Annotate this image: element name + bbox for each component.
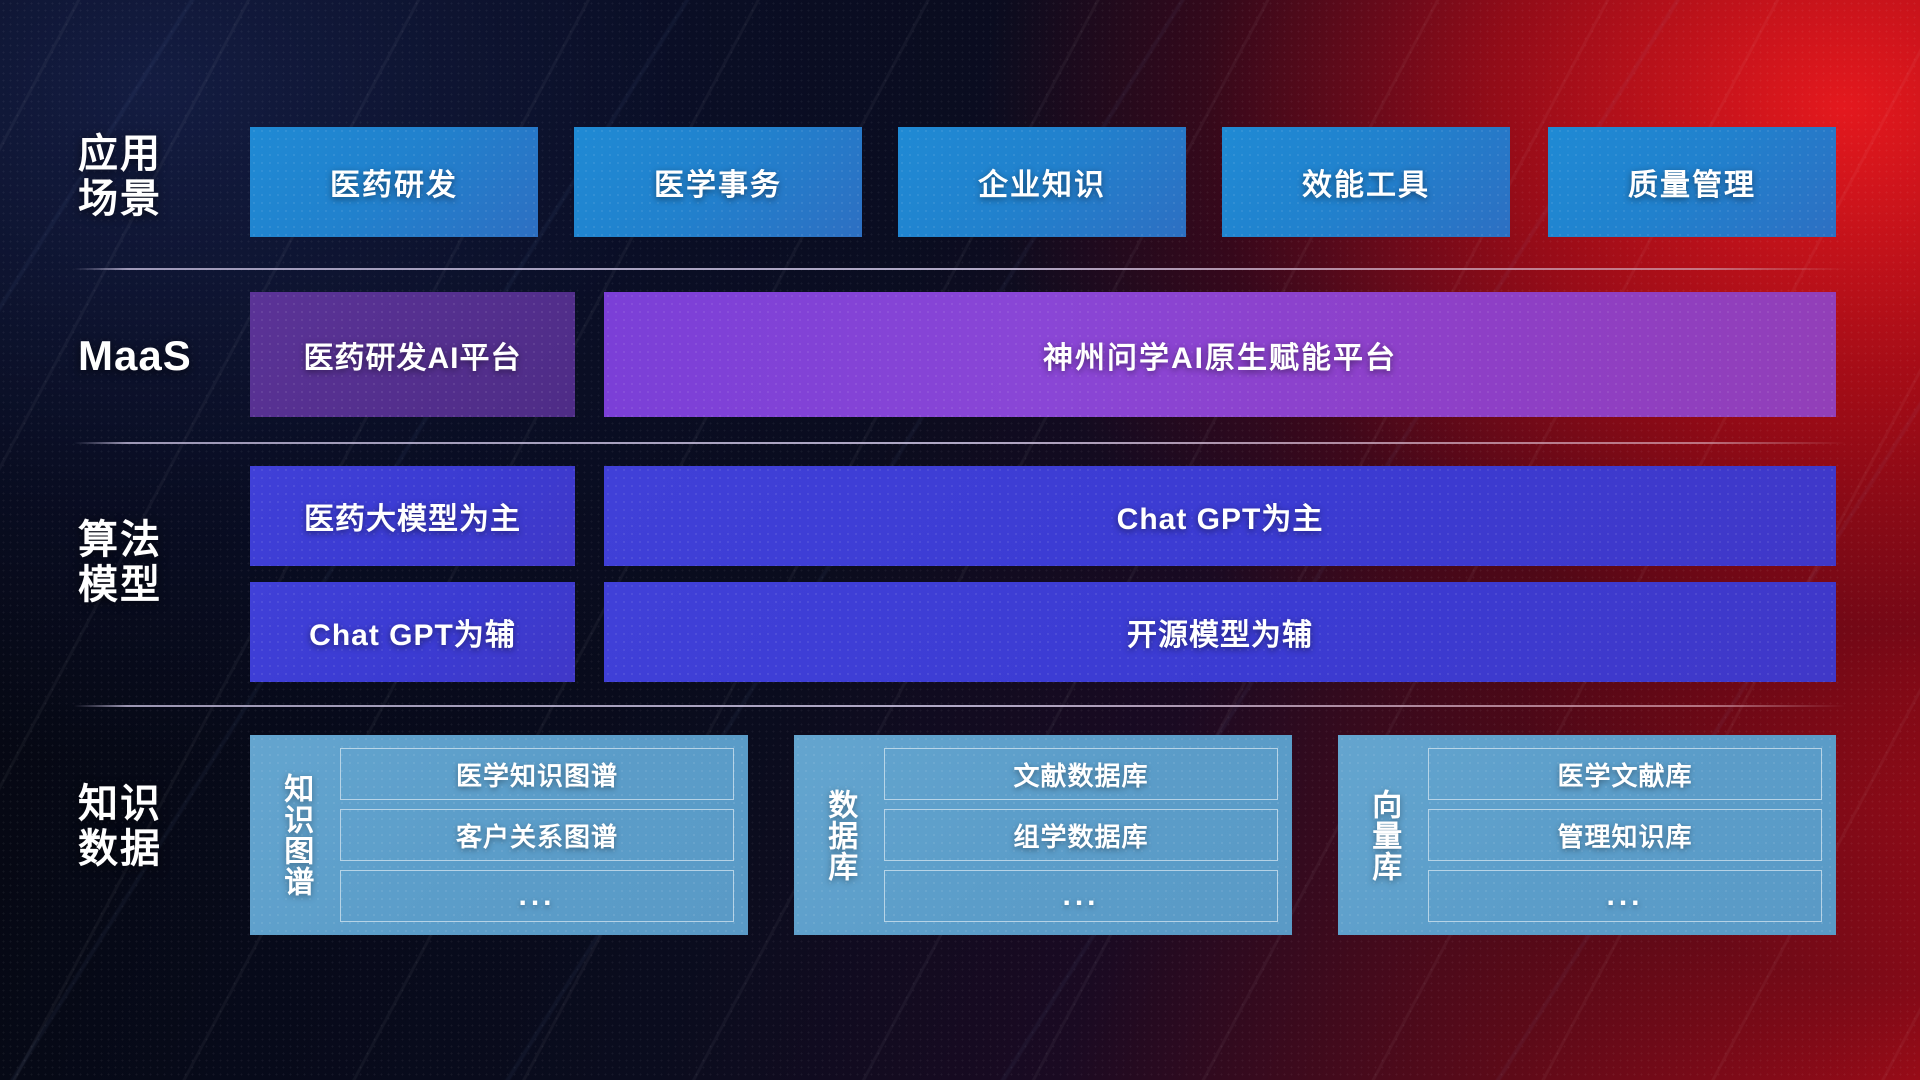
knowledge-group-items-graph: 医学知识图谱 客户关系图谱 ... [340, 748, 734, 922]
algo-label-left-secondary: Chat GPT为辅 [309, 610, 516, 654]
algo-label-right-primary: Chat GPT为主 [1117, 494, 1324, 538]
algo-box-right-secondary[interactable]: 开源模型为辅 [604, 582, 1836, 682]
divider-3 [74, 705, 1846, 707]
app-scenario-label-0: 医药研发 [330, 160, 458, 204]
app-scenario-box-3[interactable]: 效能工具 [1222, 127, 1510, 237]
app-scenario-box-1[interactable]: 医学事务 [574, 127, 862, 237]
algo-label-left-primary: 医药大模型为主 [304, 494, 521, 538]
knowledge-item-database-1[interactable]: 组学数据库 [884, 809, 1278, 861]
app-scenario-label-4: 质量管理 [1628, 160, 1756, 204]
knowledge-item-graph-2[interactable]: ... [340, 870, 734, 922]
knowledge-group-graph[interactable]: 知识图谱 医学知识图谱 客户关系图谱 ... [250, 735, 748, 935]
row-label-maas: MaaS [78, 332, 248, 379]
maas-platform-label-shenzhou: 神州问学AI原生赋能平台 [1043, 333, 1397, 377]
maas-platform-label-pharma: 医药研发AI平台 [304, 333, 522, 377]
knowledge-group-title-graph: 知识图谱 [264, 748, 326, 922]
knowledge-group-items-database: 文献数据库 组学数据库 ... [884, 748, 1278, 922]
maas-platform-box-pharma[interactable]: 医药研发AI平台 [250, 292, 575, 417]
algo-label-right-secondary: 开源模型为辅 [1127, 610, 1313, 654]
app-scenario-label-2: 企业知识 [978, 160, 1106, 204]
algo-box-right-primary[interactable]: Chat GPT为主 [604, 466, 1836, 566]
knowledge-item-database-2[interactable]: ... [884, 870, 1278, 922]
knowledge-group-items-vector: 医学文献库 管理知识库 ... [1428, 748, 1822, 922]
knowledge-group-title-database: 数据库 [808, 748, 870, 922]
algo-box-left-primary[interactable]: 医药大模型为主 [250, 466, 575, 566]
row-knowledge-data: 知识 数据 知识图谱 医学知识图谱 客户关系图谱 ... 数据库 文献数据库 组… [0, 735, 1920, 935]
app-scenario-box-0[interactable]: 医药研发 [250, 127, 538, 237]
app-scenario-box-2[interactable]: 企业知识 [898, 127, 1186, 237]
row-maas: MaaS 医药研发AI平台 神州问学AI原生赋能平台 [0, 292, 1920, 417]
row-label-algorithm-models: 算法 模型 [78, 518, 248, 608]
knowledge-group-database[interactable]: 数据库 文献数据库 组学数据库 ... [794, 735, 1292, 935]
knowledge-item-vector-2[interactable]: ... [1428, 870, 1822, 922]
knowledge-item-database-0[interactable]: 文献数据库 [884, 748, 1278, 800]
knowledge-item-vector-0[interactable]: 医学文献库 [1428, 748, 1822, 800]
algo-box-left-secondary[interactable]: Chat GPT为辅 [250, 582, 575, 682]
app-scenario-box-4[interactable]: 质量管理 [1548, 127, 1836, 237]
knowledge-item-vector-1[interactable]: 管理知识库 [1428, 809, 1822, 861]
row-application-scenarios: 应用 场景 医药研发 医学事务 企业知识 效能工具 质量管理 [0, 127, 1920, 237]
knowledge-group-vector[interactable]: 向量库 医学文献库 管理知识库 ... [1338, 735, 1836, 935]
app-scenario-label-3: 效能工具 [1302, 160, 1430, 204]
knowledge-item-graph-0[interactable]: 医学知识图谱 [340, 748, 734, 800]
row-algorithm-models: 算法 模型 医药大模型为主 Chat GPT为辅 Chat GPT为主 开源模型… [0, 466, 1920, 686]
knowledge-group-title-vector: 向量库 [1352, 748, 1414, 922]
row-label-application-scenarios: 应用 场景 [78, 132, 248, 222]
knowledge-item-graph-1[interactable]: 客户关系图谱 [340, 809, 734, 861]
divider-1 [74, 268, 1846, 270]
row-label-knowledge-data: 知识 数据 [78, 782, 248, 872]
maas-platform-box-shenzhou[interactable]: 神州问学AI原生赋能平台 [604, 292, 1836, 417]
divider-2 [74, 442, 1846, 444]
app-scenario-label-1: 医学事务 [654, 160, 782, 204]
architecture-diagram-canvas: 应用 场景 医药研发 医学事务 企业知识 效能工具 质量管理 [0, 0, 1920, 1080]
